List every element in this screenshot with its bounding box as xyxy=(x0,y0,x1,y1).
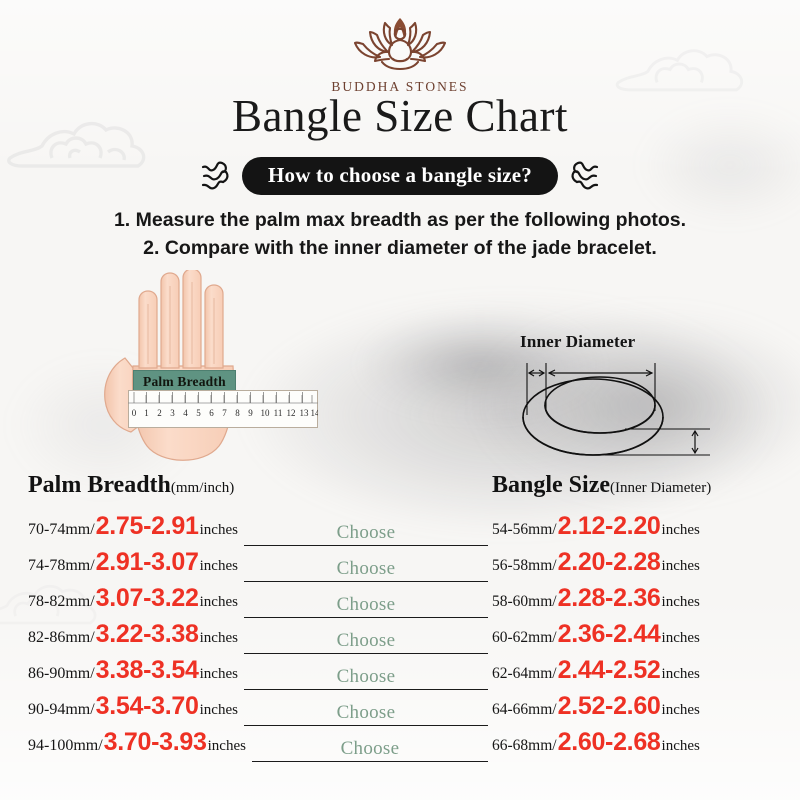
row-unit: inches xyxy=(662,738,700,755)
row-unit: inches xyxy=(662,522,700,539)
row-unit: inches xyxy=(662,702,700,719)
bangle-ring-icon xyxy=(505,355,725,470)
choose-label: Choose xyxy=(244,522,488,544)
row-mm-range: 58-60mm/ xyxy=(492,593,557,611)
row-inch-range: 3.38-3.54 xyxy=(95,656,200,685)
bangle-size-chart-page: BUDDHA STONES Bangle Size Chart How to c… xyxy=(0,0,800,800)
table-row: 78-82mm/ 3.07-3.22 inches Choose xyxy=(28,584,488,620)
table-row: 60-62mm/ 2.36-2.44 inches xyxy=(492,620,792,656)
row-unit: inches xyxy=(200,558,238,575)
row-mm-range: 54-56mm/ xyxy=(492,521,557,539)
choose-underline xyxy=(244,545,488,546)
page-title: Bangle Size Chart xyxy=(0,90,800,142)
row-inch-range: 3.70-3.93 xyxy=(103,728,208,757)
choose-underline xyxy=(244,689,488,690)
row-unit: inches xyxy=(662,630,700,647)
choose-field[interactable]: Choose xyxy=(252,740,488,764)
row-mm-range: 64-66mm/ xyxy=(492,701,557,719)
row-inch-range: 2.75-2.91 xyxy=(95,512,200,541)
choose-field[interactable]: Choose xyxy=(244,596,488,620)
choose-label: Choose xyxy=(252,738,488,760)
svg-text:4: 4 xyxy=(183,408,188,418)
palm-breadth-column: Palm Breadth(mm/inch) 70-74mm/ 2.75-2.91… xyxy=(28,472,488,764)
row-inch-range: 3.54-3.70 xyxy=(95,692,200,721)
row-inch-range: 2.28-2.36 xyxy=(557,584,662,613)
svg-text:11: 11 xyxy=(274,408,283,418)
palm-breadth-header-unit: (mm/inch) xyxy=(171,480,234,496)
row-inch-range: 3.07-3.22 xyxy=(95,584,200,613)
choose-underline xyxy=(244,581,488,582)
svg-text:2: 2 xyxy=(157,408,162,418)
table-row: 54-56mm/ 2.12-2.20 inches xyxy=(492,512,792,548)
choose-label: Choose xyxy=(244,558,488,580)
table-row: 74-78mm/ 2.91-3.07 inches Choose xyxy=(28,548,488,584)
svg-text:5: 5 xyxy=(196,408,201,418)
row-unit: inches xyxy=(200,702,238,719)
row-mm-range: 62-64mm/ xyxy=(492,665,557,683)
brand-logo: BUDDHA STONES xyxy=(0,10,800,95)
subtitle-row: How to choose a bangle size? xyxy=(0,155,800,197)
row-unit: inches xyxy=(208,738,246,755)
row-inch-range: 2.36-2.44 xyxy=(557,620,662,649)
row-mm-range: 94-100mm/ xyxy=(28,737,103,755)
choose-underline xyxy=(244,617,488,618)
row-inch-range: 2.52-2.60 xyxy=(557,692,662,721)
row-inch-range: 2.44-2.52 xyxy=(557,656,662,685)
row-inch-range: 2.20-2.28 xyxy=(557,548,662,577)
bangle-size-header-title: Bangle Size xyxy=(492,472,610,498)
palm-breadth-header-title: Palm Breadth xyxy=(28,472,171,498)
table-row: 86-90mm/ 3.38-3.54 inches Choose xyxy=(28,656,488,692)
svg-text:6: 6 xyxy=(209,408,214,418)
row-mm-range: 70-74mm/ xyxy=(28,521,95,539)
svg-text:12: 12 xyxy=(287,408,296,418)
svg-text:13: 13 xyxy=(300,408,310,418)
choose-field[interactable]: Choose xyxy=(244,560,488,584)
svg-text:0: 0 xyxy=(132,408,137,418)
table-row: 62-64mm/ 2.44-2.52 inches xyxy=(492,656,792,692)
row-unit: inches xyxy=(200,630,238,647)
table-row: 58-60mm/ 2.28-2.36 inches xyxy=(492,584,792,620)
bangle-size-column: Bangle Size(Inner Diameter) 54-56mm/ 2.1… xyxy=(492,472,792,764)
row-unit: inches xyxy=(200,666,238,683)
svg-text:9: 9 xyxy=(248,408,253,418)
table-row: 70-74mm/ 2.75-2.91 inches Choose xyxy=(28,512,488,548)
choose-underline xyxy=(244,653,488,654)
row-mm-range: 82-86mm/ xyxy=(28,629,95,647)
choose-field[interactable]: Choose xyxy=(244,524,488,548)
choose-field[interactable]: Choose xyxy=(244,632,488,656)
swirl-flourish-icon xyxy=(200,155,230,197)
choose-label: Choose xyxy=(244,666,488,688)
table-row: 66-68mm/ 2.60-2.68 inches xyxy=(492,728,792,764)
row-mm-range: 74-78mm/ xyxy=(28,557,95,575)
row-inch-range: 2.12-2.20 xyxy=(557,512,662,541)
table-row: 82-86mm/ 3.22-3.38 inches Choose xyxy=(28,620,488,656)
palm-breadth-column-header: Palm Breadth(mm/inch) xyxy=(28,472,488,499)
svg-text:7: 7 xyxy=(222,408,227,418)
row-unit: inches xyxy=(662,666,700,683)
table-row: 56-58mm/ 2.20-2.28 inches xyxy=(492,548,792,584)
choose-label: Choose xyxy=(244,702,488,724)
subtitle-pill: How to choose a bangle size? xyxy=(242,157,558,195)
row-unit: inches xyxy=(662,594,700,611)
svg-text:1: 1 xyxy=(144,408,149,418)
table-row: 90-94mm/ 3.54-3.70 inches Choose xyxy=(28,692,488,728)
bangle-size-header-unit: (Inner Diameter) xyxy=(610,480,711,496)
svg-text:10: 10 xyxy=(261,408,271,418)
row-mm-range: 86-90mm/ xyxy=(28,665,95,683)
row-mm-range: 66-68mm/ xyxy=(492,737,557,755)
table-row: 94-100mm/ 3.70-3.93 inches Choose xyxy=(28,728,488,764)
svg-text:14: 14 xyxy=(311,408,319,418)
choose-underline xyxy=(252,761,488,762)
row-inch-range: 2.91-3.07 xyxy=(95,548,200,577)
swirl-flourish-icon xyxy=(570,155,600,197)
bangle-size-column-header: Bangle Size(Inner Diameter) xyxy=(492,472,792,499)
row-inch-range: 2.60-2.68 xyxy=(557,728,662,757)
row-mm-range: 78-82mm/ xyxy=(28,593,95,611)
choose-field[interactable]: Choose xyxy=(244,704,488,728)
row-mm-range: 56-58mm/ xyxy=(492,557,557,575)
inner-diameter-caption: Inner Diameter xyxy=(520,332,635,352)
choose-underline xyxy=(244,725,488,726)
instruction-list: 1. Measure the palm max breadth as per t… xyxy=(0,207,800,262)
lotus-meditation-icon xyxy=(344,10,456,77)
svg-text:3: 3 xyxy=(170,408,175,418)
table-row: 64-66mm/ 2.52-2.60 inches xyxy=(492,692,792,728)
row-unit: inches xyxy=(662,558,700,575)
instruction-step-1: 1. Measure the palm max breadth as per t… xyxy=(0,207,800,235)
row-mm-range: 90-94mm/ xyxy=(28,701,95,719)
choose-field[interactable]: Choose xyxy=(244,668,488,692)
choose-label: Choose xyxy=(244,594,488,616)
ruler-icon: 0 1 2 3 4 5 6 7 8 9 10 11 12 13 14 xyxy=(128,390,318,430)
svg-text:8: 8 xyxy=(235,408,240,418)
row-mm-range: 60-62mm/ xyxy=(492,629,557,647)
row-inch-range: 3.22-3.38 xyxy=(95,620,200,649)
row-unit: inches xyxy=(200,594,238,611)
instruction-step-2: 2. Compare with the inner diameter of th… xyxy=(0,235,800,263)
choose-label: Choose xyxy=(244,630,488,652)
row-unit: inches xyxy=(200,522,238,539)
